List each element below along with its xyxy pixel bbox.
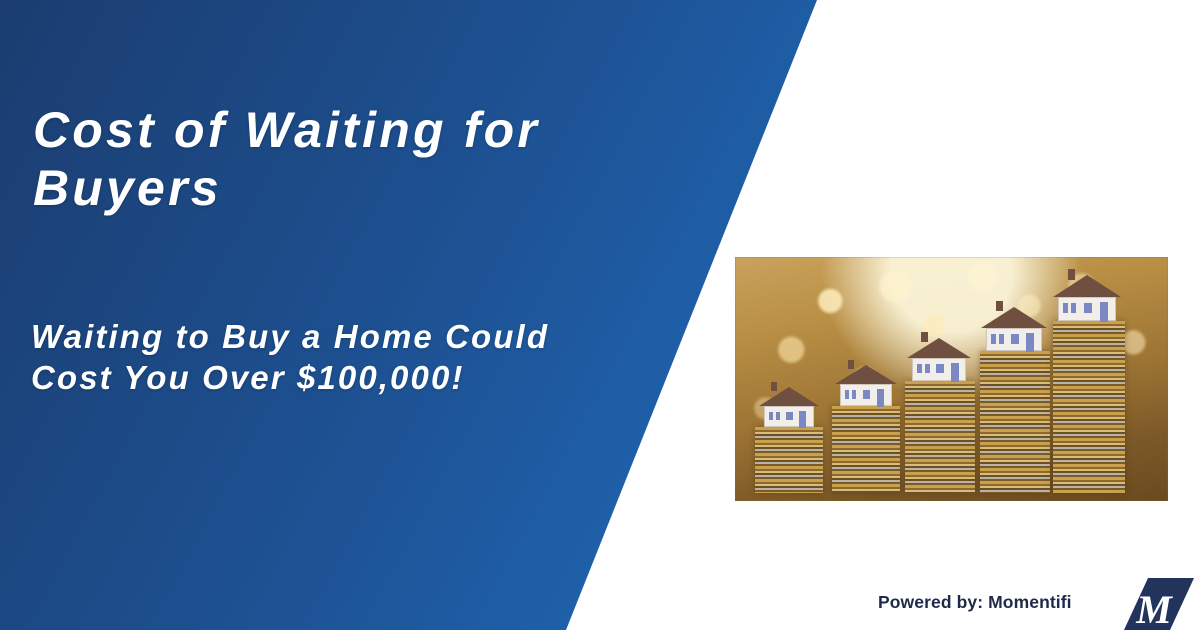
door-icon [1100, 302, 1108, 322]
momentifi-logo-icon: M [1124, 577, 1194, 630]
coin-stack-5 [1053, 321, 1125, 493]
house-1 [759, 387, 819, 427]
roof-shape [835, 365, 897, 384]
subheadline: Waiting to Buy a Home Could Cost You Ove… [31, 316, 591, 398]
powered-by-label: Powered by: Momentifi [878, 592, 1072, 613]
door-icon [877, 389, 884, 407]
house-3 [907, 338, 971, 381]
window-icon [776, 412, 780, 420]
window-icon [936, 364, 944, 373]
house-body [912, 358, 966, 381]
house-body [986, 328, 1042, 351]
social-graphic-canvas: Cost of Waiting for Buyers Waiting to Bu… [0, 0, 1200, 630]
coin-stack-4 [980, 351, 1050, 493]
roof-shape [1053, 275, 1121, 297]
house-5 [1053, 275, 1121, 321]
window-icon [1071, 303, 1076, 313]
roof-shape [759, 387, 819, 406]
window-icon [991, 334, 996, 344]
house-2 [835, 365, 897, 406]
page-title: Cost of Waiting for Buyers [33, 101, 693, 217]
window-icon [786, 412, 793, 420]
window-icon [863, 390, 870, 399]
house-body [840, 384, 892, 406]
momentifi-logo-letter: M [1135, 587, 1173, 630]
door-icon [1026, 333, 1034, 352]
window-icon [769, 412, 773, 420]
house-body [764, 406, 814, 427]
window-icon [845, 390, 849, 399]
window-icon [1084, 303, 1092, 313]
window-icon [925, 364, 930, 373]
house-body [1058, 297, 1116, 321]
coin-stacks-photo [735, 257, 1168, 501]
door-icon [951, 363, 959, 382]
door-icon [799, 411, 806, 428]
roof-shape [981, 307, 1047, 328]
roof-shape [907, 338, 971, 358]
coin-stack-3 [905, 381, 975, 493]
house-4 [981, 307, 1047, 351]
coin-stack-2 [832, 406, 900, 493]
coin-stack-1 [755, 427, 823, 493]
window-icon [1063, 303, 1068, 313]
window-icon [917, 364, 922, 373]
window-icon [999, 334, 1004, 344]
window-icon [852, 390, 856, 399]
window-icon [1011, 334, 1019, 344]
